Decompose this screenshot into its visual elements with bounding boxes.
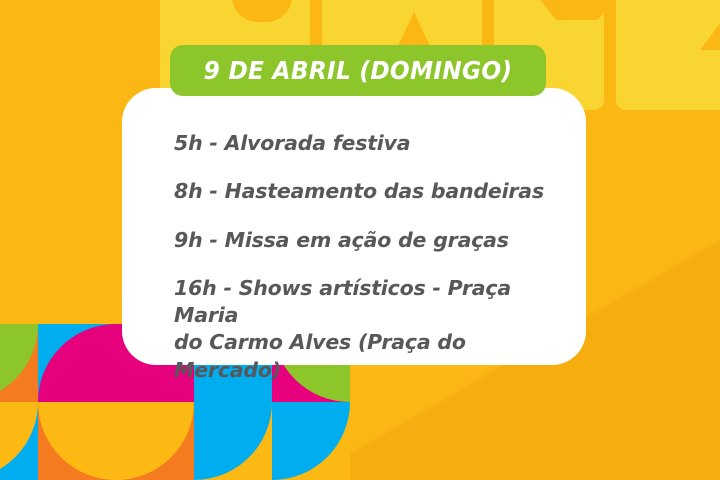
schedule-item: 9h - Missa em ação de graças: [174, 227, 560, 254]
schedule-item: 8h - Hasteamento das bandeiras: [174, 178, 560, 205]
schedule-item: 5h - Alvorada festiva: [174, 130, 560, 157]
pattern-arc: [0, 402, 38, 480]
poster-canvas: 9 DE ABRIL (DOMINGO) 5h - Alvorada festi…: [0, 0, 720, 480]
letter-cutout-1: [232, 0, 292, 22]
pattern-arc: [194, 402, 272, 480]
date-banner: 9 DE ABRIL (DOMINGO): [170, 45, 546, 96]
pattern-cell: [194, 402, 272, 480]
pattern-arc: [116, 402, 194, 480]
pattern-arc: [272, 402, 350, 480]
pattern-arc: [38, 324, 116, 402]
pattern-cell: [38, 324, 116, 402]
date-banner-label: 9 DE ABRIL (DOMINGO): [204, 56, 513, 85]
schedule-item: 16h - Shows artísticos - Praça Maria do …: [174, 275, 560, 384]
letter-notch-2: [700, 10, 720, 50]
letter-cutout-2: [540, 0, 614, 20]
pattern-cell: [0, 324, 38, 402]
schedule-card: 5h - Alvorada festiva8h - Hasteamento da…: [122, 88, 586, 365]
pattern-cell: [38, 402, 116, 480]
pattern-cell: [272, 402, 350, 480]
schedule-list: 5h - Alvorada festiva8h - Hasteamento da…: [174, 130, 560, 384]
letter-block-4: [616, 0, 720, 110]
pattern-arc: [0, 324, 38, 402]
pattern-cell: [116, 402, 194, 480]
pattern-cell: [0, 402, 38, 480]
pattern-arc: [38, 402, 116, 480]
